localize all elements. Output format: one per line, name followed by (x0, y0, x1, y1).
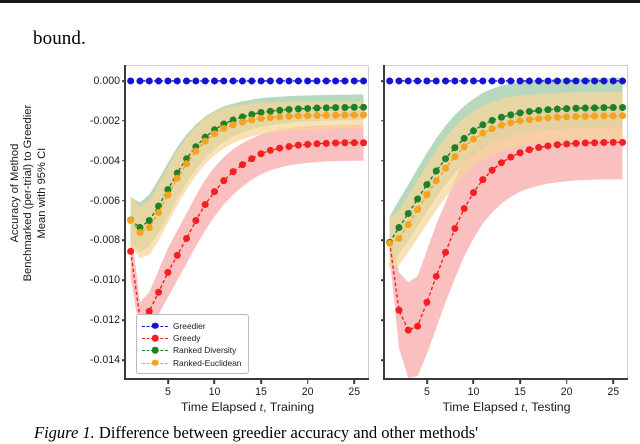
data-point (267, 147, 274, 154)
legend-marker-icon (142, 358, 168, 368)
data-point (572, 113, 579, 120)
x-tick-label: 20 (302, 386, 314, 398)
y-tick-label: 0.000 (93, 75, 120, 87)
x-axis-label-training: Time Elapsed t, Training (181, 400, 314, 415)
data-point (479, 121, 486, 128)
x-tick-mark (519, 380, 521, 384)
data-point (267, 77, 274, 84)
y-tick-label: -0.012 (90, 314, 120, 326)
data-point (341, 112, 348, 119)
data-point (239, 119, 246, 126)
data-point (351, 77, 358, 84)
y-tick-mark (381, 80, 385, 82)
legend-dot-icon (152, 347, 159, 354)
legend-label: Greedier (173, 321, 206, 331)
data-point (164, 77, 171, 84)
data-point (211, 77, 218, 84)
data-point (304, 141, 311, 148)
data-point (442, 155, 449, 162)
data-point (489, 125, 496, 132)
data-point (563, 77, 570, 84)
data-point (489, 117, 496, 124)
x-tick-label: 5 (424, 386, 430, 398)
data-point (239, 77, 246, 84)
data-point (323, 104, 330, 111)
data-point (414, 206, 421, 213)
data-point (451, 153, 458, 160)
data-point (461, 135, 468, 142)
data-point (313, 112, 320, 119)
x-tick-mark (353, 380, 355, 384)
data-point (295, 142, 302, 149)
data-point (313, 105, 320, 112)
y-tick-label: -0.002 (90, 115, 120, 127)
data-point (591, 139, 598, 146)
legend-marker-icon (142, 321, 168, 331)
data-point (395, 77, 402, 84)
data-point (535, 77, 542, 84)
data-point (610, 139, 617, 146)
data-point (183, 235, 190, 242)
data-point (526, 77, 533, 84)
x-tick-label: 15 (255, 386, 267, 398)
data-point (230, 121, 237, 128)
data-point (304, 112, 311, 119)
data-point (498, 159, 505, 166)
data-point (211, 130, 218, 137)
data-point (610, 104, 617, 111)
data-point (395, 307, 402, 314)
chart-svg (385, 65, 630, 380)
y-tick-mark (122, 120, 126, 122)
data-point (395, 224, 402, 231)
data-point (470, 127, 477, 134)
y-tick-mark (122, 160, 126, 162)
data-point (414, 195, 421, 202)
y-tick-mark (381, 160, 385, 162)
data-point (433, 273, 440, 280)
y-tick-mark (381, 120, 385, 122)
legend-item-greedier[interactable]: Greedier (142, 319, 241, 331)
data-point (572, 140, 579, 147)
data-point (405, 327, 412, 334)
chart-legend[interactable]: GreedierGreedyRanked DiversityRanked-Euc… (136, 314, 249, 374)
data-point (192, 77, 199, 84)
data-point (582, 113, 589, 120)
data-point (423, 299, 430, 306)
data-point (332, 77, 339, 84)
data-point (351, 104, 358, 111)
x-tick-mark (307, 380, 309, 384)
data-point (479, 130, 486, 137)
data-point (286, 106, 293, 113)
data-point (433, 168, 440, 175)
data-point (554, 141, 561, 148)
legend-label: Ranked-Euclidean (173, 358, 241, 368)
data-point (164, 269, 171, 276)
data-point (127, 248, 134, 255)
data-point (295, 112, 302, 119)
data-point (304, 105, 311, 112)
data-point (220, 177, 227, 184)
data-point (535, 115, 542, 122)
data-point (386, 240, 393, 247)
data-point (535, 107, 542, 114)
data-point (341, 104, 348, 111)
y-tick-mark (381, 280, 385, 282)
x-tick-mark (260, 380, 262, 384)
data-point (610, 77, 617, 84)
data-point (276, 107, 283, 114)
y-axis-label: Accuracy of Method Benchmarked (per-tria… (9, 68, 49, 318)
data-point (479, 77, 486, 84)
data-point (323, 140, 330, 147)
data-point (323, 77, 330, 84)
data-point (164, 191, 171, 198)
y-tick-mark (122, 319, 126, 321)
data-point (174, 77, 181, 84)
plot-area-testing (385, 65, 628, 380)
data-point (183, 77, 190, 84)
data-point (202, 138, 209, 145)
x-tick-label: 10 (468, 386, 480, 398)
data-point (619, 77, 626, 84)
y-tick-mark (122, 280, 126, 282)
x-axis-label-prefix-training: Time Elapsed (181, 400, 260, 414)
legend-item-ranked-euclidean[interactable]: Ranked-Euclidean (142, 357, 241, 369)
data-point (442, 165, 449, 172)
data-point (498, 114, 505, 121)
data-point (535, 144, 542, 151)
data-point (127, 217, 134, 224)
data-point (276, 113, 283, 120)
data-point (286, 77, 293, 84)
data-point (276, 77, 283, 84)
x-axis-testing (385, 378, 628, 380)
data-point (220, 77, 227, 84)
legend-dot-icon (152, 360, 159, 367)
data-point (313, 140, 320, 147)
x-tick-mark (566, 380, 568, 384)
data-point (258, 109, 265, 116)
data-point (489, 167, 496, 174)
data-point (507, 111, 514, 118)
data-point (423, 181, 430, 188)
confidence-band-greedy (131, 125, 364, 334)
data-point (461, 77, 468, 84)
x-tick-mark (167, 380, 169, 384)
data-point (507, 119, 514, 126)
data-point (545, 106, 552, 113)
data-point (414, 77, 421, 84)
data-point (395, 235, 402, 242)
data-point (276, 145, 283, 152)
data-point (155, 77, 162, 84)
y-tick-label: -0.008 (90, 234, 120, 246)
figure-1: Accuracy of Method Benchmarked (per-tria… (0, 55, 640, 415)
data-point (610, 112, 617, 119)
data-point (423, 191, 430, 198)
data-point (360, 139, 367, 146)
x-tick-mark (214, 380, 216, 384)
data-point (461, 143, 468, 150)
data-point (202, 201, 209, 208)
data-point (332, 112, 339, 119)
x-tick-label: 5 (165, 386, 171, 398)
y-tick-mark (122, 200, 126, 202)
y-axis-label-line-1: Accuracy of Method (9, 68, 22, 318)
data-point (220, 125, 227, 132)
legend-label: Ranked Diversity (173, 345, 236, 355)
legend-dot-icon (152, 335, 159, 342)
data-point (351, 112, 358, 119)
data-point (451, 77, 458, 84)
y-tick-mark (381, 319, 385, 321)
data-point (600, 112, 607, 119)
data-point (572, 77, 579, 84)
caption-prefix: Figure 1. (34, 423, 95, 442)
y-tick-mark (381, 240, 385, 242)
data-point (582, 139, 589, 146)
legend-item-greedy[interactable]: Greedy (142, 332, 241, 344)
data-point (442, 249, 449, 256)
data-point (554, 114, 561, 121)
data-point (332, 139, 339, 146)
data-point (341, 139, 348, 146)
data-point (295, 77, 302, 84)
y-tick-mark (381, 200, 385, 202)
data-point (183, 160, 190, 167)
data-point (202, 77, 209, 84)
data-point (360, 77, 367, 84)
data-point (545, 114, 552, 121)
x-axis-label-suffix-training: , Training (263, 400, 314, 414)
data-point (517, 149, 524, 156)
y-tick-mark (122, 80, 126, 82)
data-point (545, 77, 552, 84)
data-point (563, 140, 570, 147)
data-point (498, 122, 505, 129)
chart-panel-training: 0.000-0.002-0.004-0.006-0.008-0.010-0.01… (124, 65, 369, 380)
data-point (526, 108, 533, 115)
data-point (479, 176, 486, 183)
data-point (230, 168, 237, 175)
data-point (600, 139, 607, 146)
data-point (174, 175, 181, 182)
data-point (267, 114, 274, 121)
data-point (433, 77, 440, 84)
x-axis-label-testing: Time Elapsed t, Testing (442, 400, 570, 415)
x-tick-label: 10 (209, 386, 221, 398)
data-point (155, 209, 162, 216)
legend-marker-icon (142, 345, 168, 355)
x-tick-label: 20 (561, 386, 573, 398)
data-point (313, 77, 320, 84)
data-point (545, 142, 552, 149)
data-point (572, 105, 579, 112)
x-tick-mark (612, 380, 614, 384)
x-axis-training (126, 378, 369, 380)
x-tick-label: 15 (514, 386, 526, 398)
data-point (258, 115, 265, 122)
data-point (563, 105, 570, 112)
data-point (414, 323, 421, 330)
legend-dot-icon (152, 322, 159, 329)
data-point (470, 77, 477, 84)
data-point (554, 77, 561, 84)
data-point (517, 77, 524, 84)
y-tick-mark (122, 240, 126, 242)
data-point (248, 155, 255, 162)
data-point (239, 161, 246, 168)
y-tick-label: -0.004 (90, 155, 120, 167)
y-tick-mark (122, 359, 126, 361)
x-axis-label-prefix-testing: Time Elapsed (442, 400, 521, 414)
data-point (258, 150, 265, 157)
data-point (136, 229, 143, 236)
data-point (146, 224, 153, 231)
data-point (258, 77, 265, 84)
legend-item-ranked-diversity[interactable]: Ranked Diversity (142, 344, 241, 356)
data-point (405, 221, 412, 228)
data-point (192, 148, 199, 155)
data-point (433, 177, 440, 184)
data-point (489, 77, 496, 84)
data-point (360, 104, 367, 111)
data-point (127, 77, 134, 84)
data-point (461, 205, 468, 212)
data-point (155, 289, 162, 296)
data-point (517, 117, 524, 124)
data-point (526, 116, 533, 123)
preceding-body-text: bound. (33, 28, 86, 50)
data-point (332, 104, 339, 111)
data-point (146, 77, 153, 84)
data-point (211, 188, 218, 195)
legend-marker-icon (142, 333, 168, 343)
data-point (248, 117, 255, 124)
data-point (554, 106, 561, 113)
data-point (591, 77, 598, 84)
data-point (498, 77, 505, 84)
data-point (442, 77, 449, 84)
data-point (174, 252, 181, 259)
data-point (360, 111, 367, 118)
y-axis-label-line-2: Benchmarked (per-trial) to Greedier (22, 68, 35, 318)
data-point (295, 105, 302, 112)
data-point (526, 146, 533, 153)
data-point (619, 112, 626, 119)
data-point (619, 139, 626, 146)
chart-panel-testing: 510152025 Time Elapsed t, Testing (383, 65, 628, 380)
data-point (507, 77, 514, 84)
data-point (591, 104, 598, 111)
data-point (192, 217, 199, 224)
data-point (582, 77, 589, 84)
x-tick-mark (426, 380, 428, 384)
data-point (507, 154, 514, 161)
data-point (451, 225, 458, 232)
y-tick-label: -0.014 (90, 354, 120, 366)
data-point (619, 104, 626, 111)
figure-caption: Figure 1. Difference between greedier ac… (34, 423, 640, 443)
x-axis-label-suffix-testing: , Testing (525, 400, 571, 414)
data-point (286, 113, 293, 120)
y-tick-label: -0.010 (90, 274, 120, 286)
data-point (591, 113, 598, 120)
x-tick-label: 25 (607, 386, 619, 398)
data-point (341, 77, 348, 84)
data-point (470, 189, 477, 196)
data-point (323, 112, 330, 119)
data-point (351, 139, 358, 146)
y-axis-label-line-3: Mean with 95% CI (36, 68, 49, 318)
data-point (267, 108, 274, 115)
x-tick-label: 25 (348, 386, 360, 398)
y-tick-label: -0.006 (90, 195, 120, 207)
data-point (405, 210, 412, 217)
data-point (304, 77, 311, 84)
data-point (563, 113, 570, 120)
data-point (600, 104, 607, 111)
data-point (470, 136, 477, 143)
data-point (136, 77, 143, 84)
data-point (405, 77, 412, 84)
x-tick-mark (473, 380, 475, 384)
data-point (451, 144, 458, 151)
data-point (582, 105, 589, 112)
page-top-rule (0, 0, 640, 3)
data-point (286, 143, 293, 150)
data-point (423, 77, 430, 84)
data-point (386, 77, 393, 84)
data-point (248, 77, 255, 84)
data-point (600, 77, 607, 84)
data-point (517, 109, 524, 116)
legend-label: Greedy (173, 333, 200, 343)
y-tick-mark (381, 359, 385, 361)
caption-body: Difference between greedier accuracy and… (99, 423, 478, 442)
data-point (230, 77, 237, 84)
